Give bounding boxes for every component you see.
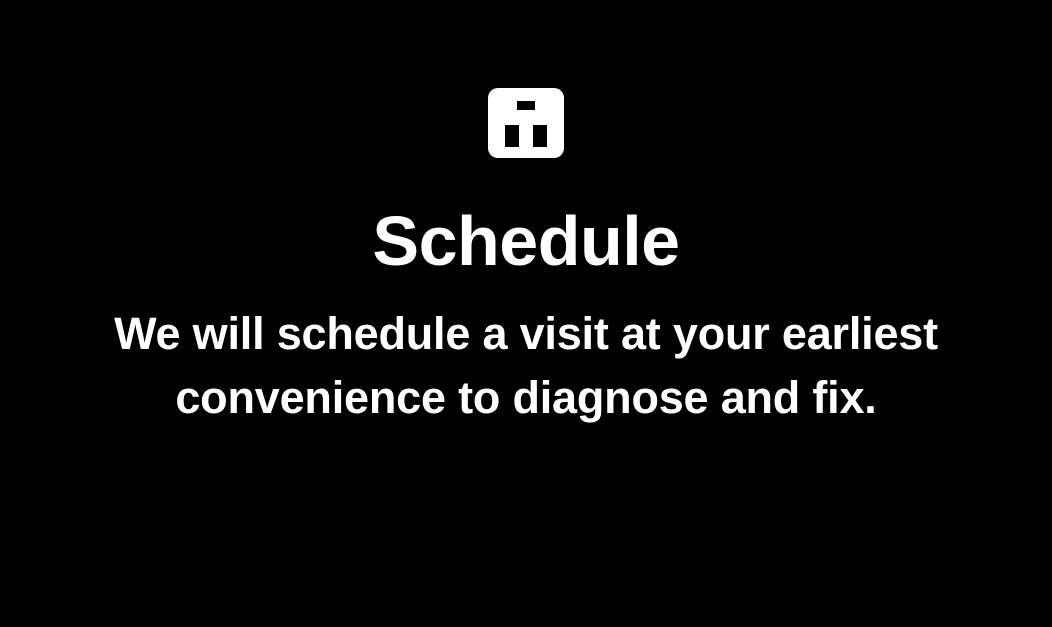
schedule-card: Schedule We will schedule a visit at you…: [0, 0, 1052, 627]
toolbox-icon: [488, 88, 564, 158]
page-description: We will schedule a visit at your earlies…: [66, 302, 986, 430]
page-title: Schedule: [372, 206, 679, 276]
